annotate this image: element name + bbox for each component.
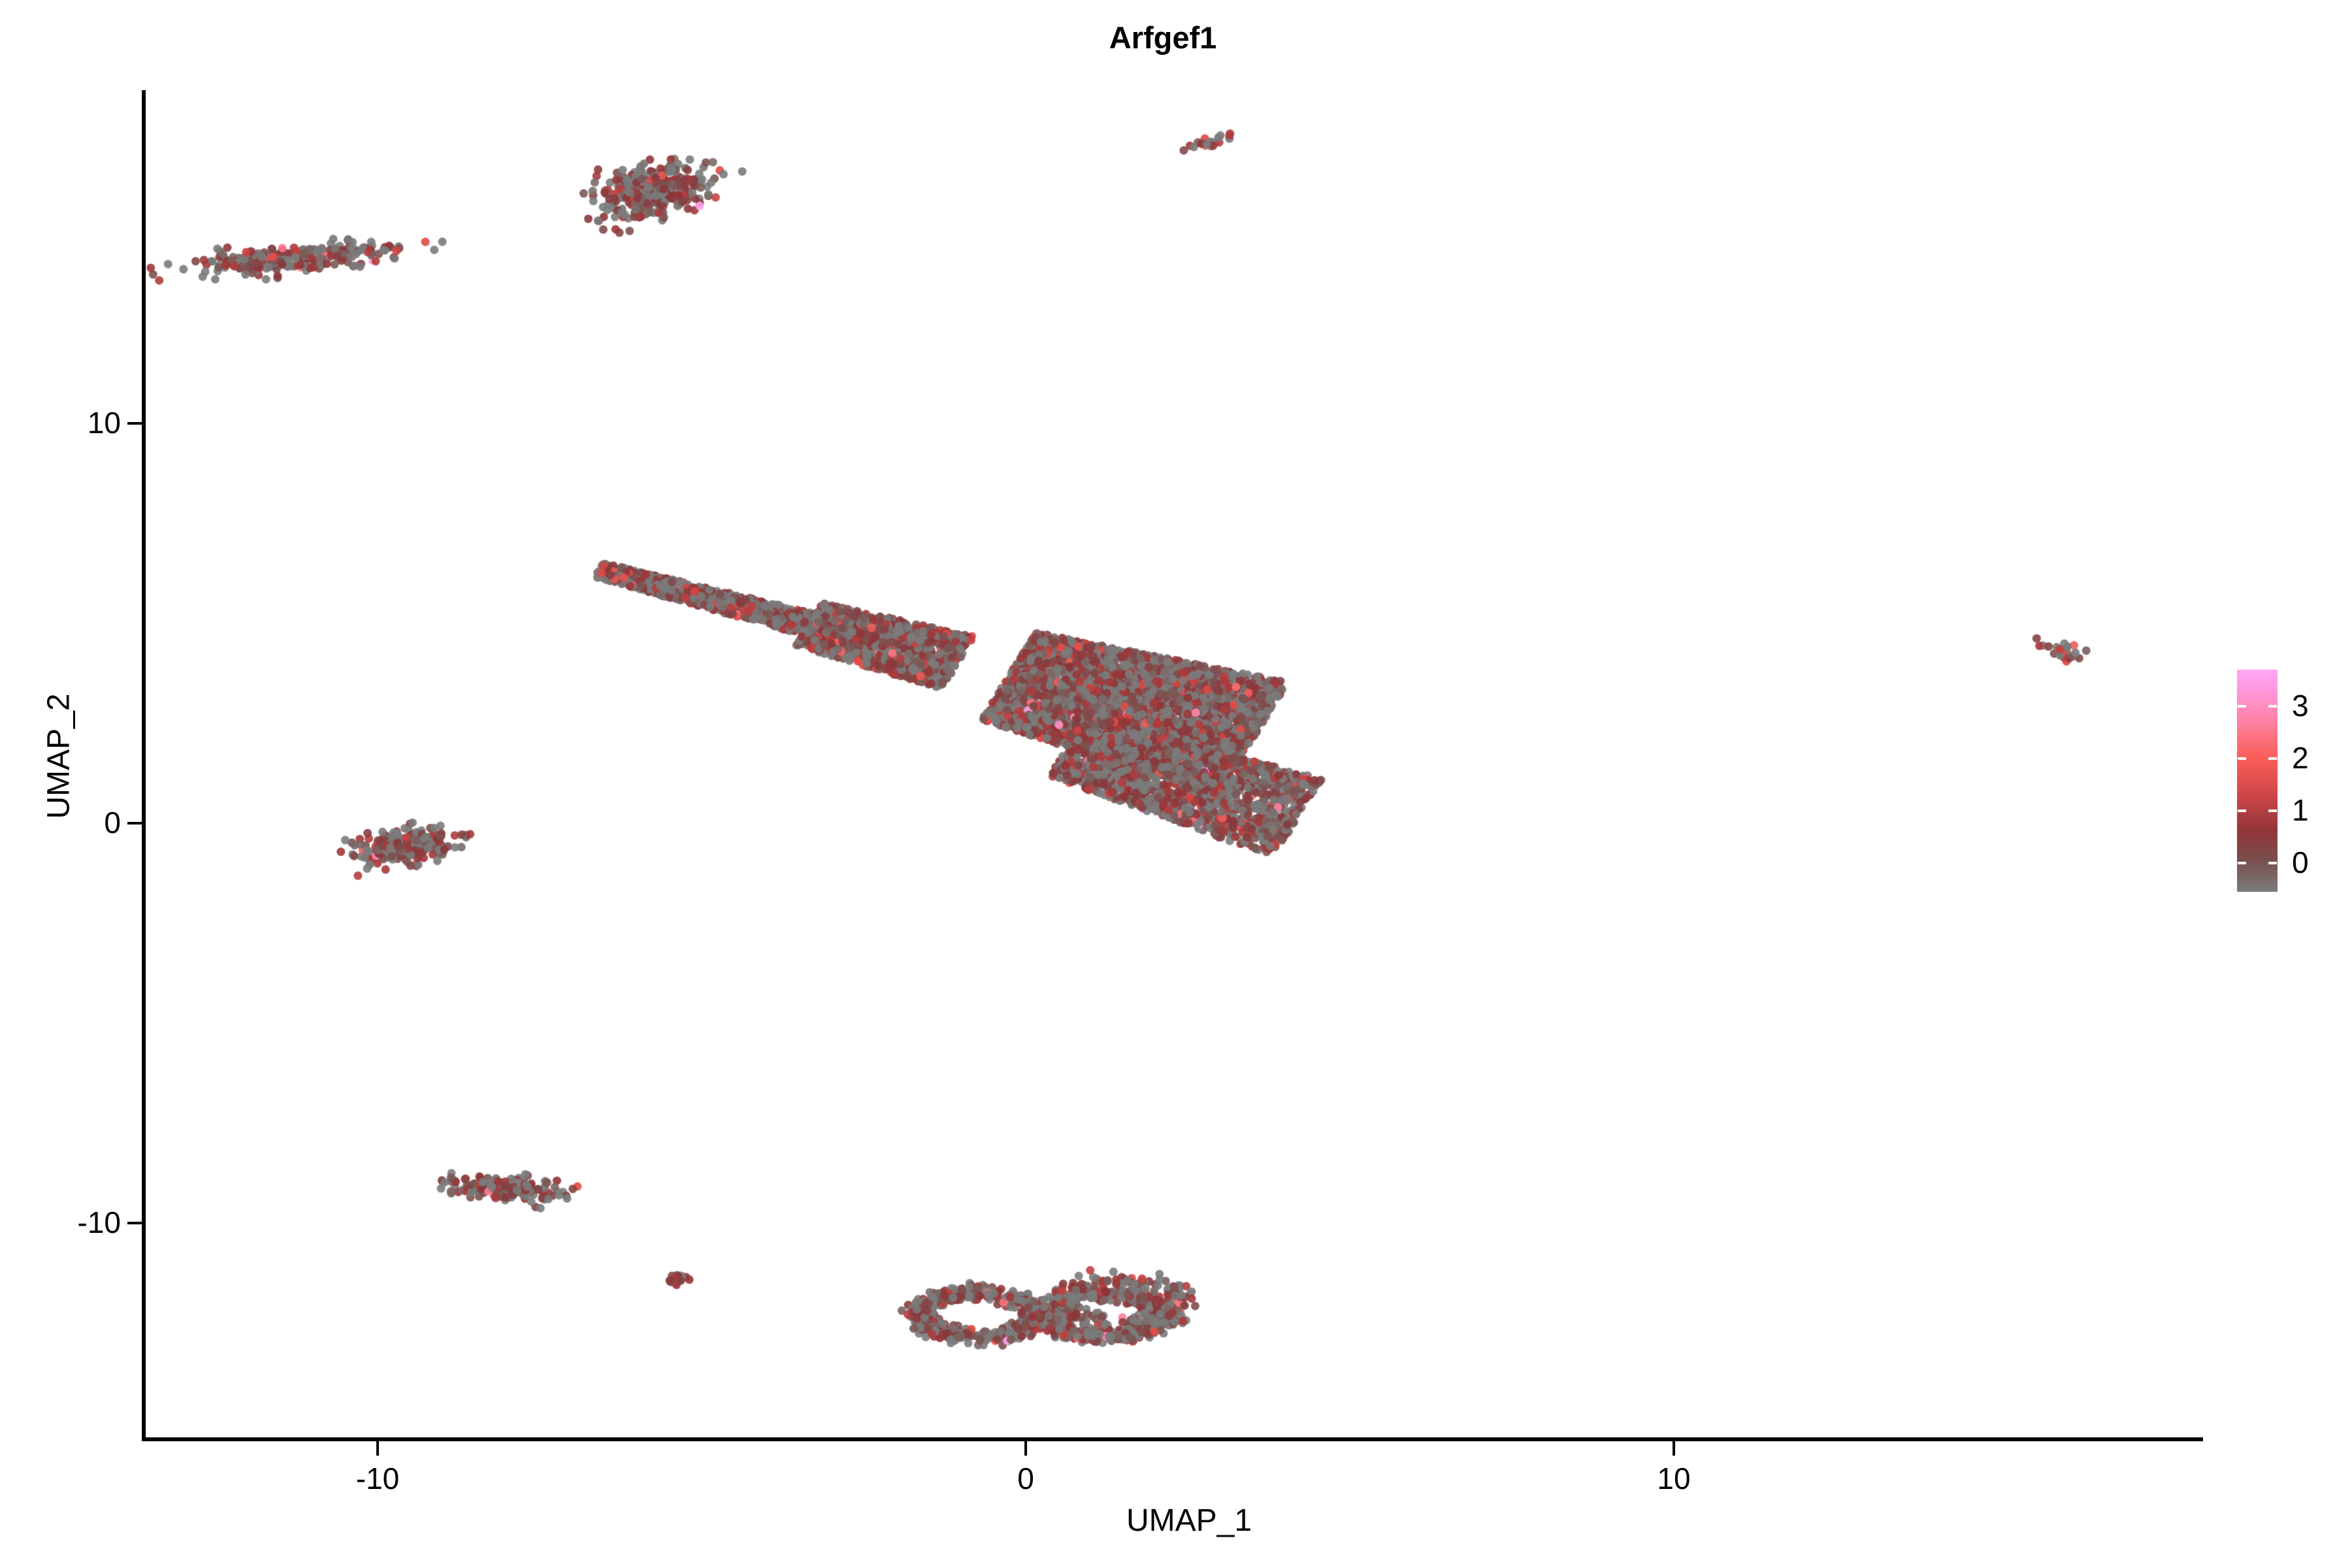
colorbar-tick-1-left [2238, 809, 2246, 812]
scatter-points-canvas [144, 90, 2203, 1439]
umap-feature-plot-figure: Arfgef1 -10 0 10 10 0 -10 UMAP_1 UMAP_2 … [0, 0, 2352, 1568]
colorbar-label-2: 2 [2292, 743, 2309, 773]
colorbar-tick-1-right [2268, 809, 2277, 812]
colorbar-label-3: 3 [2292, 691, 2309, 721]
y-tick-label-neg10: -10 [29, 1205, 121, 1240]
x-tick-mark-10 [1673, 1441, 1675, 1456]
x-tick-mark-0 [1024, 1441, 1027, 1456]
y-axis-label: UMAP_2 [41, 365, 77, 1149]
colorbar-label-1: 1 [2292, 795, 2309, 825]
x-tick-label-0: 0 [960, 1461, 1091, 1496]
colorbar-tick-3-left [2238, 705, 2246, 708]
colorbar-tick-3-right [2268, 705, 2277, 708]
x-tick-mark-neg10 [376, 1441, 379, 1456]
colorbar-gradient [2237, 670, 2278, 892]
y-tick-mark-neg10 [127, 1222, 142, 1224]
page-title: Arfgef1 [0, 20, 2339, 56]
colorbar-tick-0-left [2238, 862, 2246, 864]
x-tick-label-neg10: -10 [312, 1461, 443, 1496]
colorbar-tick-2-right [2268, 757, 2277, 760]
colorbar-label-0: 0 [2292, 847, 2309, 877]
x-tick-label-10: 10 [1609, 1461, 1739, 1496]
y-tick-mark-10 [127, 422, 142, 425]
colorbar-tick-2-left [2238, 757, 2246, 760]
colorbar-tick-0-right [2268, 862, 2277, 864]
y-tick-mark-0 [127, 822, 142, 825]
scatter-plot-area [144, 90, 2203, 1439]
x-axis-label: UMAP_1 [13, 1503, 2352, 1539]
expression-colorbar-legend: 3 2 1 0 [2237, 670, 2348, 892]
